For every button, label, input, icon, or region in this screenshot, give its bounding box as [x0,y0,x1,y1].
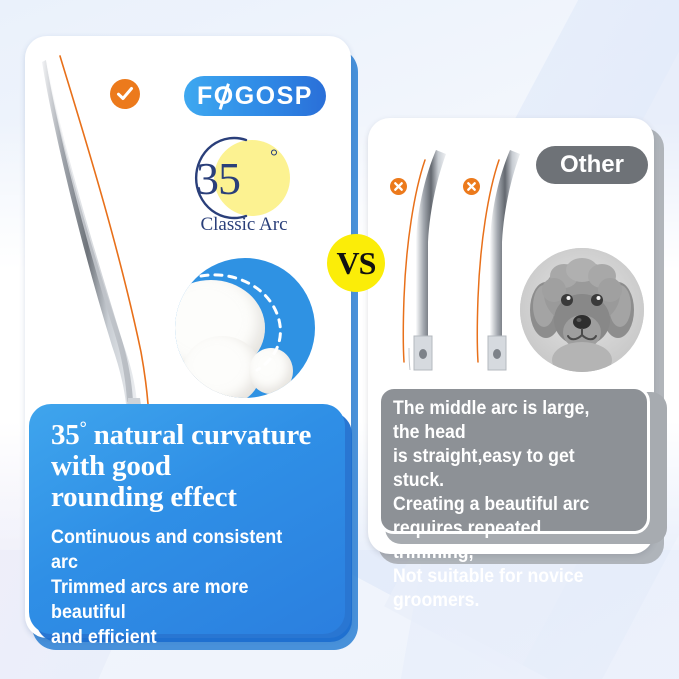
groomed-paw-photo [175,258,315,398]
left-body-line-3: and efficient [51,625,303,650]
right-body-line-5: Not suitable for novice groomers. [393,565,620,613]
right-body-line-2: is straight,easy to get stuck. [393,445,620,493]
headline-degree-symbol: ° [80,417,87,437]
left-panel-body: Continuous and consistent arc Trimmed ar… [51,525,303,650]
left-reference-arc-line [40,52,160,412]
paw-dashed-arc [175,258,315,398]
arc-degree-symbol: ° [270,146,278,169]
left-body-line-2: Trimmed arcs are more beautiful [51,575,303,625]
check-icon [110,79,140,109]
x-glyph [393,181,404,192]
headline-line3: rounding effect [51,481,237,513]
right-panel-body: The middle arc is large, the head is str… [393,397,620,613]
left-benefit-panel: 35° natural curvature with good rounding… [29,404,345,634]
poodle-illustration [520,248,644,372]
arc-number: 35 [196,144,308,214]
other-badge: Other [536,146,648,184]
left-panel-headline: 35° natural curvature with good rounding… [51,420,325,513]
right-body-line-4: requires repeated trimming, [393,517,620,565]
right-body-line-3: Creating a beautiful arc [393,493,620,517]
headline-line1-rest: natural curvature [87,419,312,451]
headline-number: 35 [51,419,80,451]
headline-line2: with good [51,450,171,482]
x-icon [463,178,480,195]
brand-letter-o-slashed: O [214,82,235,111]
x-icon [390,178,407,195]
x-glyph [466,181,477,192]
right-drawback-panel: The middle arc is large, the head is str… [378,386,650,534]
brand-letter-f: F [197,82,214,111]
vs-badge: VS [327,234,385,292]
brand-letters-rest: GOSP [235,82,313,111]
straight-head-scissor-blades-icon [392,148,532,380]
check-glyph [115,84,135,104]
poodle-photo [520,248,644,372]
arc-caption: Classic Arc [174,214,314,236]
right-body-line-1: The middle arc is large, the head [393,397,620,445]
classic-arc-mark: 35 ° Classic Arc [178,134,308,234]
infographic-stage: FOGOSP 35 ° Classic Arc 35° natural curv… [0,0,679,679]
left-body-line-1: Continuous and consistent arc [51,525,303,575]
brand-badge: FOGOSP [184,76,326,116]
